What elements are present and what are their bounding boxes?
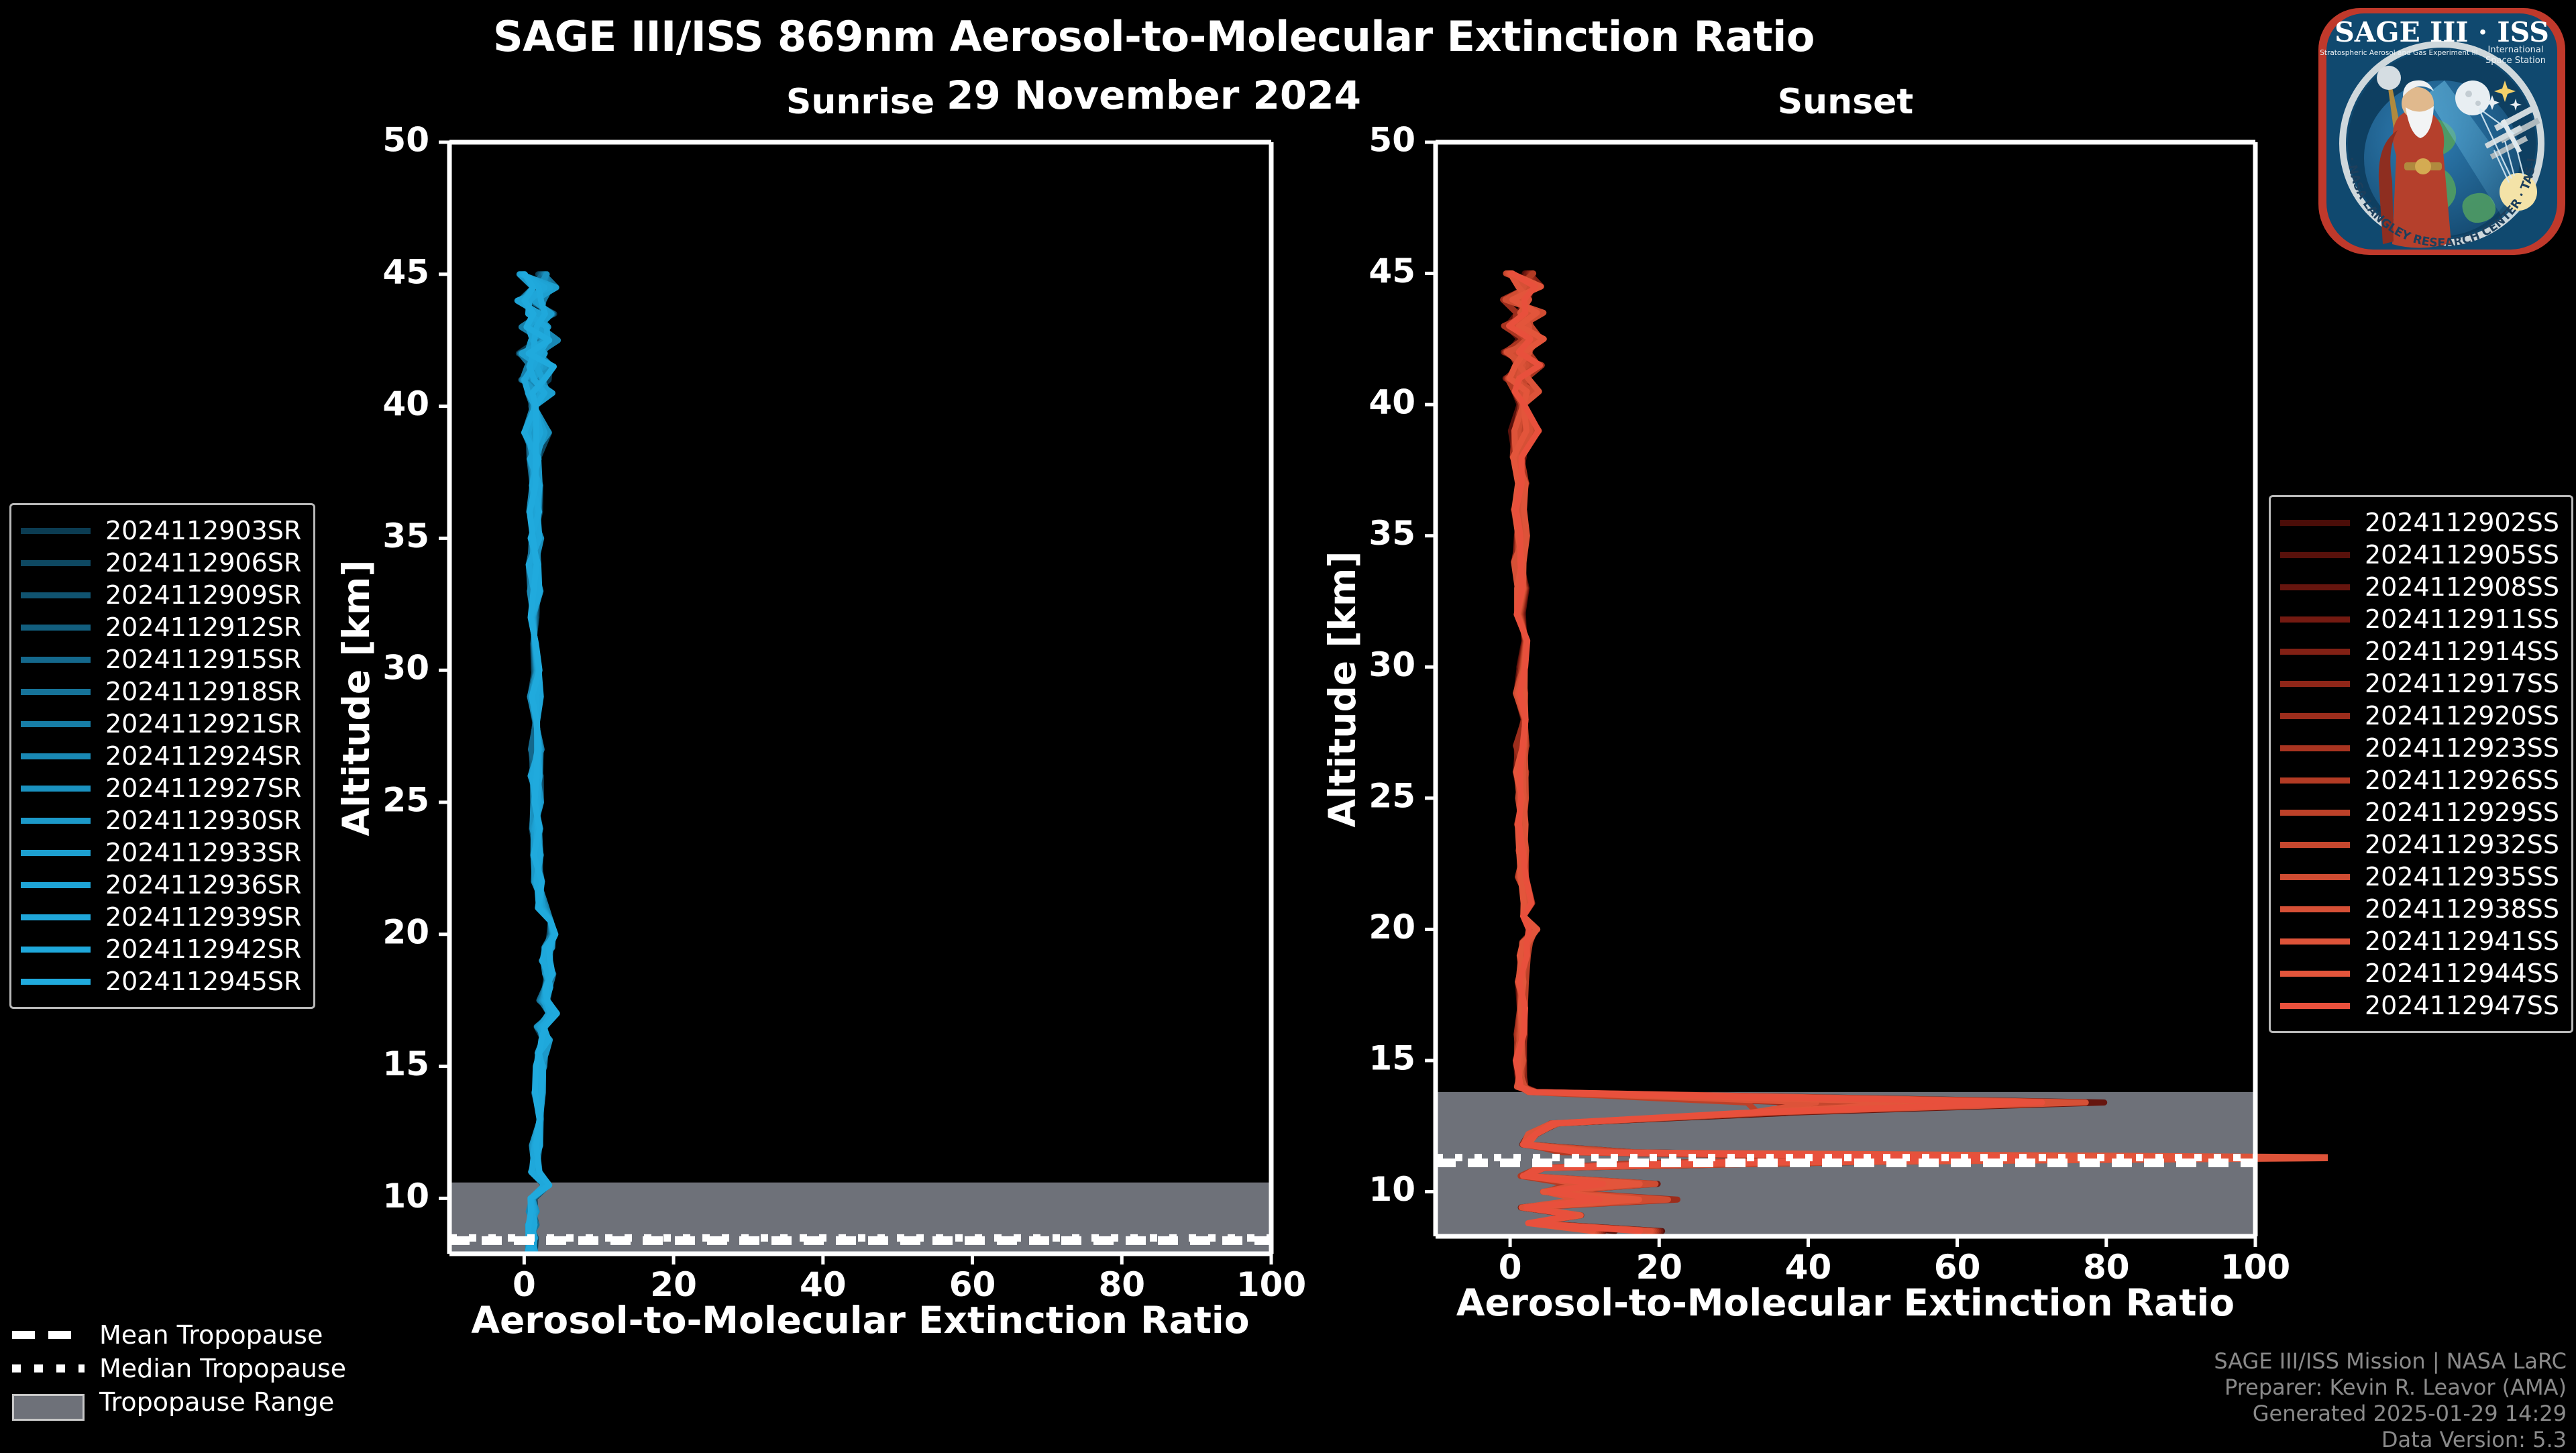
legend-item-label: 2024112945SR [105, 967, 301, 996]
legend-item[interactable]: 2024112930SR [21, 804, 301, 837]
legend-item-mean-tropopause: Mean Tropopause [12, 1318, 346, 1352]
legend-color-swatch [2280, 584, 2350, 590]
mean-tropopause-label: Mean Tropopause [99, 1320, 323, 1350]
legend-color-swatch [21, 818, 91, 824]
legend-item[interactable]: 2024112923SS [2280, 732, 2559, 764]
credits-block: SAGE III/ISS Mission | NASA LaRC Prepare… [2214, 1348, 2567, 1453]
data-series-line [1506, 274, 1948, 1232]
legend-item[interactable]: 2024112908SS [2280, 571, 2559, 603]
legend-color-swatch [21, 528, 91, 534]
patch-subtitle-right-line2: Space Station [2485, 56, 2546, 66]
data-series-group [517, 274, 557, 1251]
legend-item-label: 2024112941SS [2365, 926, 2559, 956]
legend-item-label: 2024112902SS [2365, 508, 2559, 537]
legend-color-swatch [2280, 777, 2350, 784]
legend-color-swatch [2280, 971, 2350, 977]
y-tick-label: 45 [1368, 252, 1415, 290]
legend-color-swatch [2280, 1003, 2350, 1009]
chart-page: SAGE III/ISS 869nm Aerosol-to-Molecular … [0, 0, 2576, 1449]
legend-item[interactable]: 2024112938SS [2280, 893, 2559, 925]
data-series-line [1509, 274, 2043, 1232]
legend-color-swatch [21, 979, 91, 985]
legend-item[interactable]: 2024112915SR [21, 643, 301, 676]
patch-moon-crater-1 [2465, 91, 2472, 97]
legend-item-label: 2024112906SR [105, 548, 301, 578]
y-tick-label: 20 [382, 912, 429, 951]
legend-item-label: 2024112935SS [2365, 862, 2559, 892]
data-series-line [1504, 274, 1904, 1232]
legend-color-swatch [21, 689, 91, 695]
legend-color-swatch [2280, 649, 2350, 655]
legend-item-label: 2024112911SS [2365, 604, 2559, 634]
legend-item[interactable]: 2024112905SS [2280, 539, 2559, 571]
data-series-line [1513, 274, 2114, 1232]
legend-color-swatch [21, 592, 91, 598]
legend-color-swatch [2280, 713, 2350, 719]
legend-color-swatch [2280, 681, 2350, 687]
patch-moon-crater-2 [2475, 101, 2481, 106]
data-series-line [1507, 274, 2086, 1232]
data-series-line [1506, 274, 2057, 1232]
legend-item-label: 2024112942SR [105, 934, 301, 964]
legend-item-label: 2024112932SS [2365, 830, 2559, 859]
legend-item[interactable]: 2024112921SR [21, 708, 301, 740]
legend-item[interactable]: 2024112906SR [21, 547, 301, 579]
patch-belt-buckle [2415, 158, 2431, 174]
sunset-plot-svg: 101520253035404550020406080100Aerosol-to… [986, 0, 2328, 1382]
legend-item[interactable]: 2024112909SR [21, 579, 301, 611]
y-tick-label: 25 [382, 780, 429, 819]
y-tick-label: 40 [382, 384, 429, 423]
y-tick-label: 50 [1368, 121, 1415, 160]
sunset-plot-panel: 101520253035404550020406080100Aerosol-to… [986, 0, 2328, 1382]
legend-item-label: 2024112933SR [105, 838, 301, 867]
legend-color-swatch [21, 914, 91, 920]
credit-line-preparer: Preparer: Kevin R. Leavor (AMA) [2214, 1375, 2567, 1401]
legend-item-label: 2024112936SR [105, 870, 301, 900]
legend-item-label: 2024112917SS [2365, 669, 2559, 698]
y-tick-label: 45 [382, 252, 429, 291]
legend-item[interactable]: 2024112942SR [21, 933, 301, 965]
legend-item[interactable]: 2024112927SR [21, 772, 301, 804]
legend-item-label: 2024112921SR [105, 709, 301, 739]
legend-color-swatch [2280, 874, 2350, 880]
legend-item[interactable]: 2024112918SR [21, 676, 301, 708]
y-tick-label: 15 [382, 1044, 429, 1083]
legend-item-median-tropopause: Median Tropopause [12, 1352, 346, 1385]
sage-iii-iss-mission-patch-logo: SAGE III · ISS Stratospheric Aerosol and… [2313, 3, 2571, 260]
legend-item-label: 2024112926SS [2365, 765, 2559, 795]
legend-color-swatch [21, 721, 91, 727]
legend-item-label: 2024112927SR [105, 773, 301, 803]
legend-item[interactable]: 2024112903SR [21, 515, 301, 547]
legend-color-swatch [21, 786, 91, 792]
data-series-line [1505, 274, 2229, 1232]
legend-item-label: 2024112903SR [105, 516, 301, 545]
legend-item[interactable]: 2024112932SS [2280, 828, 2559, 861]
legend-color-swatch [2280, 842, 2350, 848]
legend-item[interactable]: 2024112911SS [2280, 603, 2559, 635]
legend-item-tropopause-range: Tropopause Range [12, 1385, 346, 1419]
legend-item[interactable]: 2024112945SR [21, 965, 301, 998]
data-series-line [1507, 274, 2268, 1232]
dashed-line-icon [12, 1331, 85, 1339]
credit-line-mission: SAGE III/ISS Mission | NASA LaRC [2214, 1348, 2567, 1375]
data-series-group [1503, 274, 2328, 1232]
data-series-line [1503, 274, 2077, 1232]
legend-item[interactable]: 2024112933SR [21, 837, 301, 869]
legend-item[interactable]: 2024112936SR [21, 869, 301, 901]
legend-item-label: 2024112909SR [105, 580, 301, 610]
legend-color-swatch [21, 560, 91, 566]
legend-color-swatch [21, 753, 91, 759]
y-tick-label: 30 [382, 649, 429, 688]
y-tick-label: 10 [382, 1177, 429, 1216]
credit-line-data-version: Data Version: 5.3 [2214, 1427, 2567, 1453]
legend-color-swatch [2280, 745, 2350, 751]
y-tick-label: 30 [1368, 645, 1415, 684]
y-axis-title: Altitude [km] [1321, 551, 1364, 828]
y-tick-label: 35 [1368, 514, 1415, 553]
sunrise-legend[interactable]: 2024112903SR2024112906SR2024112909SR2024… [9, 503, 315, 1009]
legend-color-swatch [21, 657, 91, 663]
legend-item-label: 2024112929SS [2365, 798, 2559, 827]
legend-color-swatch [2280, 938, 2350, 945]
legend-item-label: 2024112912SR [105, 612, 301, 642]
legend-item-label: 2024112944SS [2365, 959, 2559, 988]
y-tick-label: 35 [382, 517, 429, 555]
legend-item-label: 2024112908SS [2365, 572, 2559, 602]
data-series-line [1507, 274, 1860, 1232]
sunset-legend[interactable]: 2024112902SS2024112905SS2024112908SS2024… [2269, 495, 2573, 1033]
legend-color-swatch [2280, 552, 2350, 558]
legend-item[interactable]: 2024112924SR [21, 740, 301, 772]
data-series-line [1509, 274, 2210, 1232]
legend-item-label: 2024112914SS [2365, 637, 2559, 666]
patch-title: SAGE III · ISS [2334, 16, 2549, 48]
gray-band-icon [12, 1394, 85, 1421]
legend-color-swatch [21, 850, 91, 856]
legend-item[interactable]: 2024112929SS [2280, 796, 2559, 828]
legend-color-swatch [2280, 520, 2350, 526]
legend-item[interactable]: 2024112917SS [2280, 667, 2559, 700]
legend-item[interactable]: 2024112939SR [21, 901, 301, 933]
legend-color-swatch [2280, 810, 2350, 816]
y-tick-label: 50 [382, 121, 429, 160]
legend-item[interactable]: 2024112947SS [2280, 989, 2559, 1022]
legend-item[interactable]: 2024112926SS [2280, 764, 2559, 796]
data-series-line [1504, 274, 2288, 1232]
y-tick-label: 40 [1368, 383, 1415, 422]
dotted-line-icon [12, 1364, 85, 1373]
y-tick-label: 25 [1368, 776, 1415, 815]
patch-staff-orb [2377, 66, 2401, 90]
credit-line-generated: Generated 2025-01-29 14:29 [2214, 1401, 2567, 1427]
legend-item-label: 2024112915SR [105, 645, 301, 674]
legend-item-label: 2024112939SR [105, 902, 301, 932]
tropopause-range-label: Tropopause Range [99, 1387, 334, 1417]
legend-item[interactable]: 2024112914SS [2280, 635, 2559, 667]
y-tick-label: 20 [1368, 908, 1415, 947]
y-tick-label: 10 [1368, 1170, 1415, 1209]
legend-item[interactable]: 2024112912SR [21, 611, 301, 643]
legend-color-swatch [2280, 906, 2350, 912]
legend-item-label: 2024112938SS [2365, 894, 2559, 924]
legend-color-swatch [21, 625, 91, 631]
data-series-line [1515, 274, 2096, 1232]
data-series-line [1507, 274, 2248, 1232]
legend-item[interactable]: 2024112944SS [2280, 957, 2559, 989]
patch-moon [2455, 80, 2490, 115]
legend-color-swatch [2280, 616, 2350, 623]
y-tick-label: 15 [1368, 1038, 1415, 1077]
legend-item-label: 2024112920SS [2365, 701, 2559, 731]
patch-subtitle-right-line1: International [2488, 45, 2544, 55]
legend-item-label: 2024112930SR [105, 806, 301, 835]
legend-color-swatch [21, 882, 91, 888]
legend-item-label: 2024112947SS [2365, 991, 2559, 1020]
mission-patch-svg: SAGE III · ISS Stratospheric Aerosol and… [2313, 3, 2571, 260]
median-tropopause-label: Median Tropopause [99, 1354, 346, 1383]
legend-item-label: 2024112918SR [105, 677, 301, 706]
legend-item[interactable]: 2024112935SS [2280, 861, 2559, 893]
legend-item[interactable]: 2024112920SS [2280, 700, 2559, 732]
legend-item[interactable]: 2024112941SS [2280, 925, 2559, 957]
tropopause-legend: Mean Tropopause Median Tropopause Tropop… [12, 1318, 346, 1419]
x-axis-title: Aerosol-to-Molecular Extinction Ratio [1456, 1281, 2235, 1324]
legend-item-label: 2024112924SR [105, 741, 301, 771]
legend-color-swatch [21, 947, 91, 953]
data-series-line [1510, 274, 2328, 1232]
legend-item[interactable]: 2024112902SS [2280, 506, 2559, 539]
data-series-line [1507, 274, 1992, 1232]
legend-item-label: 2024112905SS [2365, 540, 2559, 570]
legend-item-label: 2024112923SS [2365, 733, 2559, 763]
patch-subtitle-left: Stratospheric Aerosol and Gas Experiment… [2320, 49, 2478, 57]
y-axis-title: Altitude [km] [335, 560, 378, 837]
